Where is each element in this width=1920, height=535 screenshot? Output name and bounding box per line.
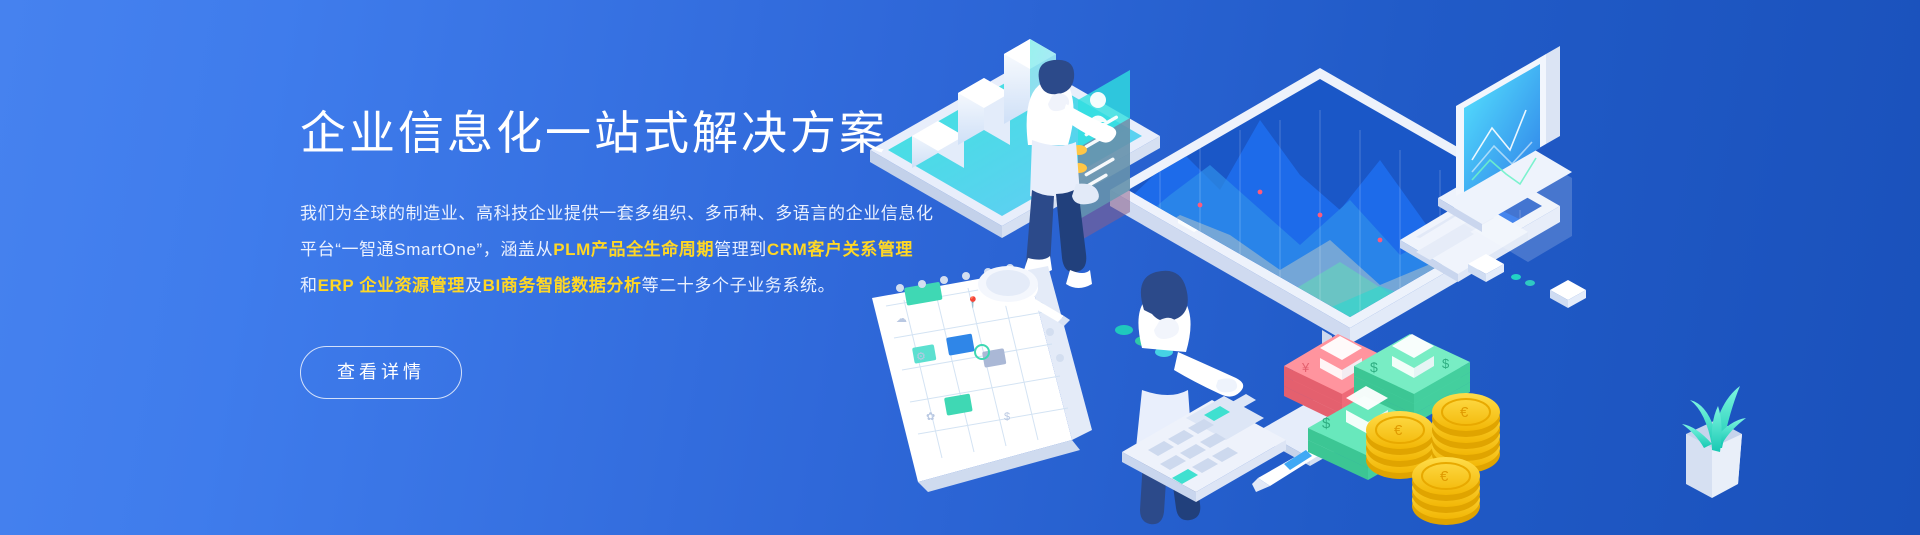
desc-seg: 我们为全球的制造业、高科技企业提供一套多组织、多币种、多语言的企业信息化	[300, 204, 934, 223]
description-line-1: 我们为全球的制造业、高科技企业提供一套多组织、多币种、多语言的企业信息化	[300, 196, 1000, 232]
svg-text:€: €	[1440, 468, 1449, 485]
svg-text:$: $	[1370, 359, 1378, 375]
description-line-2: 平台“一智通SmartOne”，涵盖从PLM产品全生命周期管理到CRM客户关系管…	[300, 232, 1000, 268]
desc-seg: 和	[300, 276, 318, 295]
hero-copy: 企业信息化一站式解决方案 我们为全球的制造业、高科技企业提供一套多组织、多币种、…	[300, 104, 1000, 399]
potted-plant	[1682, 386, 1746, 498]
hero-banner: ☁⚙ 📍✿$	[0, 0, 1920, 535]
floating-cubes-laptop	[1468, 254, 1586, 308]
desc-seg: 平台“一智通SmartOne”，涵盖从	[300, 240, 553, 259]
desc-seg-highlight-erp: ERP 企业资源管理	[318, 276, 465, 295]
hero-illustration: ☁⚙ 📍✿$	[860, 0, 1920, 535]
svg-text:$: $	[1004, 411, 1010, 423]
desc-seg: 及	[465, 276, 483, 295]
desc-seg-highlight-crm: CRM客户关系管理	[767, 240, 913, 259]
svg-text:$: $	[1442, 356, 1450, 371]
svg-text:$: $	[1322, 415, 1331, 432]
view-details-button[interactable]: 查看详情	[300, 346, 462, 399]
desc-seg-highlight-bi: BI商务智能数据分析	[483, 276, 642, 295]
coin-stacks-euro: € €	[1366, 393, 1500, 525]
description-line-3: 和ERP 企业资源管理及BI商务智能数据分析等二十多个子业务系统。	[300, 268, 1000, 304]
page-title: 企业信息化一站式解决方案	[300, 104, 1000, 162]
desc-seg: 管理到	[714, 240, 767, 259]
hero-description: 我们为全球的制造业、高科技企业提供一套多组织、多币种、多语言的企业信息化 平台“…	[300, 196, 1000, 304]
svg-text:€: €	[1460, 404, 1469, 421]
desc-seg-highlight-plm: PLM产品全生命周期	[553, 240, 714, 259]
desc-seg: 等二十多个子业务系统。	[642, 276, 836, 295]
svg-text:€: €	[1394, 422, 1403, 439]
svg-text:¥: ¥	[1301, 360, 1310, 375]
svg-text:✿: ✿	[926, 411, 935, 423]
